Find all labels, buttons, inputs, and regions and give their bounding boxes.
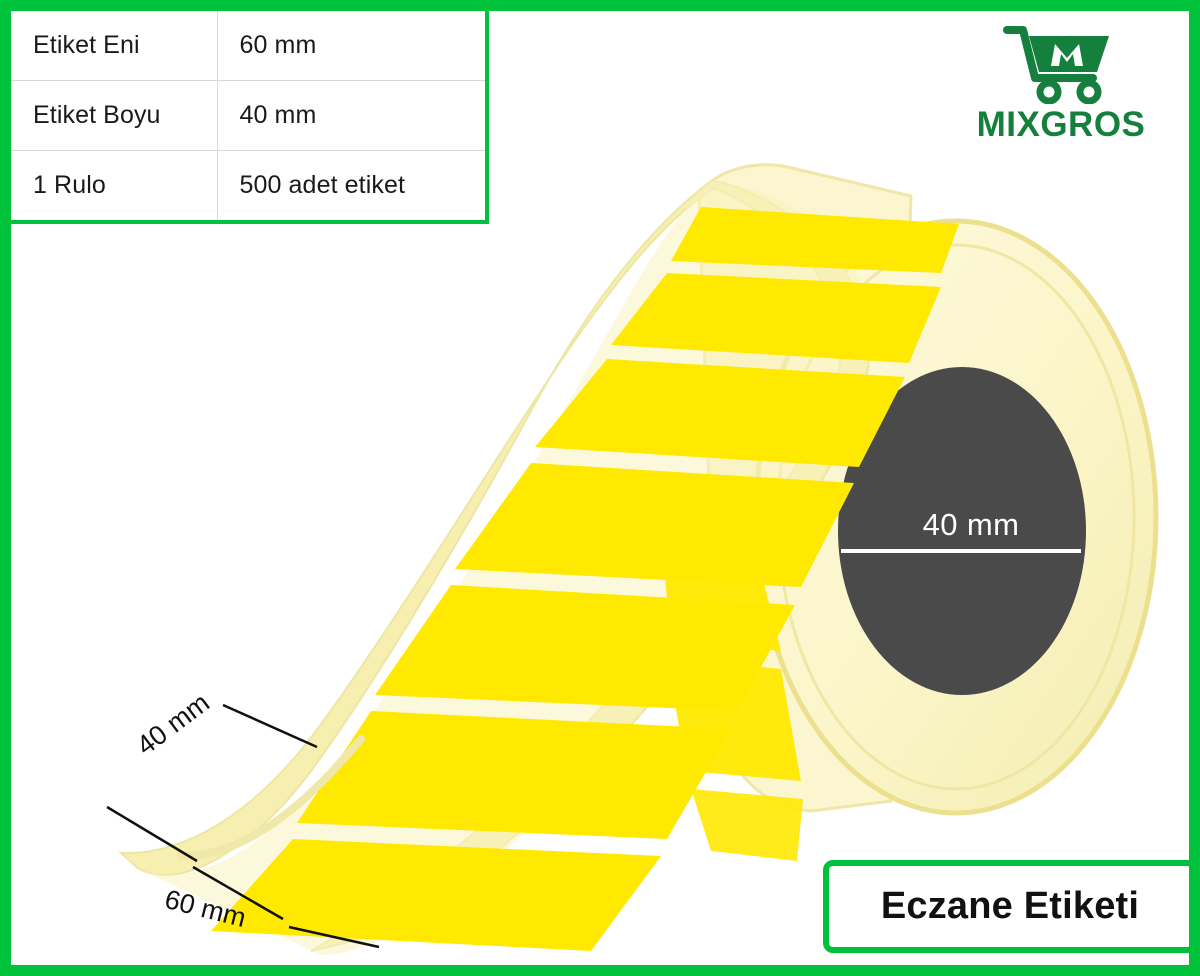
spec-value-roll: 500 adet etiket	[217, 151, 485, 221]
product-type-label: Eczane Etiketi	[881, 885, 1139, 928]
brand-name: MIXGROS	[951, 107, 1171, 142]
spec-label-width: Etiket Eni	[11, 11, 217, 81]
spec-label-length: Etiket Boyu	[11, 81, 217, 151]
table-row: Etiket Boyu 40 mm	[11, 81, 485, 151]
table-row: Etiket Eni 60 mm	[11, 11, 485, 81]
cart-icon-wrapper	[951, 19, 1171, 105]
spec-table-grid: Etiket Eni 60 mm Etiket Boyu 40 mm 1 Rul…	[11, 11, 485, 220]
product-type-badge: Eczane Etiketi	[823, 860, 1197, 953]
spec-label-roll: 1 Rulo	[11, 151, 217, 221]
table-row: 1 Rulo 500 adet etiket	[11, 151, 485, 221]
product-image-canvas: 40 mm 40 mm 60 mm Etiket Eni 60 mm Etike…	[0, 0, 1200, 976]
brand-logo: MIXGROS	[951, 19, 1171, 142]
shopping-cart-icon	[1001, 20, 1121, 104]
spec-value-width: 60 mm	[217, 11, 485, 81]
spec-value-length: 40 mm	[217, 81, 485, 151]
specification-table: Etiket Eni 60 mm Etiket Boyu 40 mm 1 Rul…	[11, 11, 489, 224]
